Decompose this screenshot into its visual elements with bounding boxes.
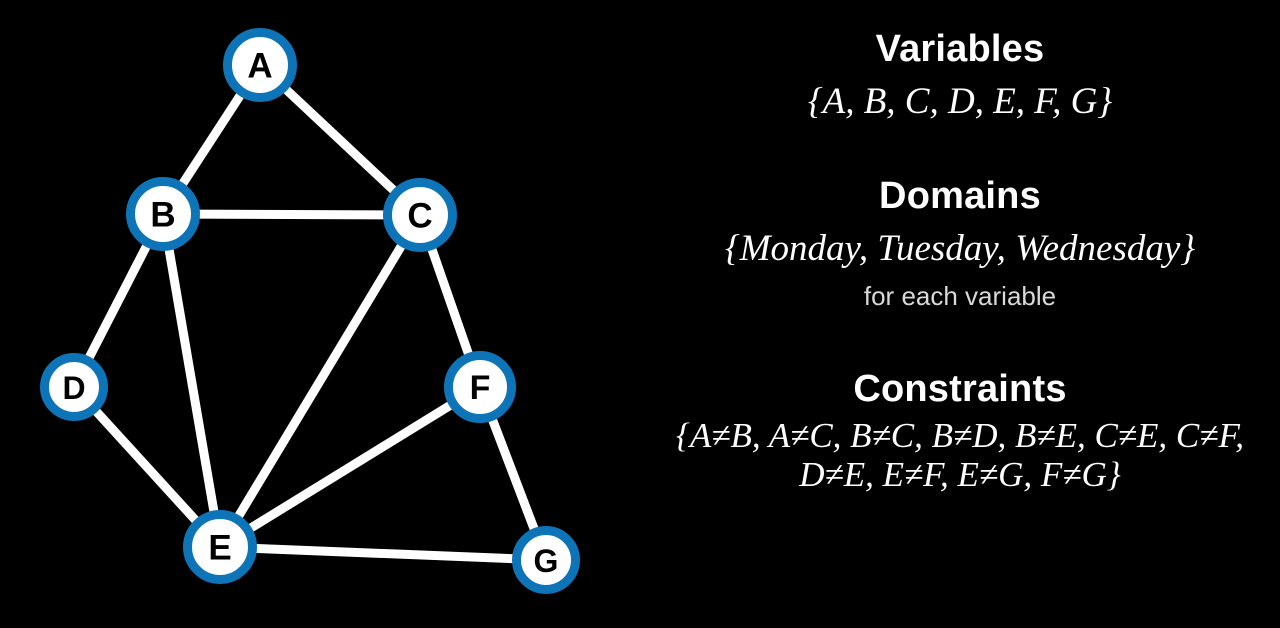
csp-slide: ABCDEFG Variables {A, B, C, D, E, F, G} …: [0, 0, 1280, 628]
constraints-section: Constraints {A≠B, A≠C, B≠C, B≠D, B≠E, C≠…: [658, 368, 1262, 494]
node-label-g: G: [534, 543, 559, 579]
graph-edge-b-c: [163, 214, 420, 215]
graph-edge-e-f: [220, 387, 480, 547]
node-label-e: E: [208, 529, 231, 568]
domains-note: for each variable: [658, 281, 1262, 312]
constraint-graph: ABCDEFG: [0, 0, 640, 628]
node-label-b: B: [150, 196, 175, 235]
constraint-graph-pane: ABCDEFG: [0, 0, 640, 628]
graph-node-e[interactable]: E: [188, 515, 253, 580]
node-label-d: D: [62, 370, 85, 406]
domains-set: {Monday, Tuesday, Wednesday}: [658, 227, 1262, 271]
constraints-heading: Constraints: [658, 368, 1262, 412]
graph-node-c[interactable]: C: [388, 183, 453, 248]
variables-heading: Variables: [658, 28, 1262, 72]
graph-edge-c-e: [220, 215, 420, 547]
domains-section: Domains {Monday, Tuesday, Wednesday} for…: [658, 175, 1262, 312]
node-label-f: F: [470, 369, 491, 407]
node-label-c: C: [407, 197, 432, 236]
domains-heading: Domains: [658, 175, 1262, 219]
graph-node-g[interactable]: G: [517, 531, 576, 590]
definition-panel: Variables {A, B, C, D, E, F, G} Domains …: [640, 0, 1280, 628]
graph-node-f[interactable]: F: [449, 356, 512, 419]
graph-node-a[interactable]: A: [228, 33, 293, 98]
variables-section: Variables {A, B, C, D, E, F, G}: [658, 28, 1262, 123]
node-label-a: A: [247, 47, 272, 86]
graph-node-b[interactable]: B: [131, 182, 196, 247]
variables-set: {A, B, C, D, E, F, G}: [658, 80, 1262, 124]
constraints-set: {A≠B, A≠C, B≠C, B≠D, B≠E, C≠E, C≠F, D≠E,…: [658, 416, 1262, 494]
graph-edge-e-g: [220, 547, 546, 560]
graph-edges: [74, 65, 546, 560]
graph-node-d[interactable]: D: [45, 358, 104, 417]
